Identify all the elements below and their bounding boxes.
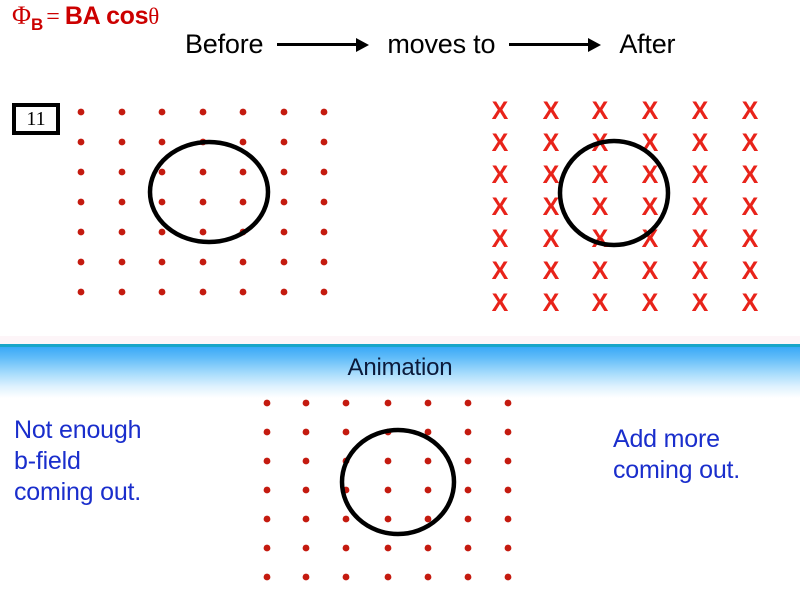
field-diagram-animation [255, 390, 525, 590]
right-arrow-icon [509, 37, 605, 51]
svg-text:X: X [592, 225, 609, 253]
caption-left-line3: coming out. [14, 477, 224, 508]
before-field-svg [70, 100, 360, 310]
svg-text:X: X [742, 225, 759, 253]
svg-text:X: X [692, 193, 709, 221]
svg-text:X: X [742, 289, 759, 317]
svg-text:X: X [492, 225, 509, 253]
animation-banner: Animation [0, 336, 800, 398]
svg-text:X: X [742, 161, 759, 189]
svg-text:X: X [692, 129, 709, 157]
svg-text:X: X [492, 193, 509, 221]
svg-text:X: X [692, 161, 709, 189]
caption-not-enough-bfield: Not enough b-field coming out. [14, 415, 224, 508]
svg-text:X: X [543, 289, 560, 317]
caption-right-line1: Add more [613, 424, 793, 455]
svg-text:X: X [543, 193, 560, 221]
svg-text:X: X [592, 97, 609, 125]
svg-text:X: X [543, 161, 560, 189]
caption-left-line2: b-field [14, 446, 224, 477]
equals-sign: = [43, 4, 65, 30]
x-grid-after: XXXXXX XXXXXX XXXXXX XXXXXX XXXXXX XXXXX… [492, 97, 759, 317]
svg-text:X: X [692, 257, 709, 285]
dot-grid-before [78, 109, 328, 296]
svg-text:X: X [692, 289, 709, 317]
animation-title: Animation [0, 354, 800, 382]
after-field-svg: XXXXXX XXXXXX XXXXXX XXXXXX XXXXXX XXXXX… [487, 93, 787, 311]
svg-text:X: X [692, 225, 709, 253]
theta-symbol: θ [148, 4, 159, 29]
svg-text:X: X [492, 97, 509, 125]
svg-text:X: X [642, 97, 659, 125]
flux-symbol: Φ [12, 1, 31, 30]
svg-text:X: X [592, 161, 609, 189]
moves-to-label: moves to [387, 29, 495, 59]
svg-text:X: X [543, 129, 560, 157]
svg-text:X: X [742, 257, 759, 285]
svg-text:X: X [592, 257, 609, 285]
slide-number-badge: 11 [12, 103, 60, 135]
svg-text:X: X [642, 161, 659, 189]
svg-text:X: X [742, 193, 759, 221]
transition-header: Before moves to After [185, 24, 715, 64]
flux-expression: BA cos [65, 2, 148, 30]
right-arrow-icon [277, 37, 373, 51]
banner-top-edge [0, 336, 800, 344]
svg-text:X: X [592, 289, 609, 317]
svg-text:X: X [742, 97, 759, 125]
svg-text:X: X [692, 97, 709, 125]
before-label: Before [185, 29, 263, 59]
flux-formula: ΦB=BA cosθ [12, 2, 159, 39]
after-label: After [619, 29, 675, 59]
svg-text:X: X [742, 129, 759, 157]
current-loop-animation [342, 430, 454, 534]
svg-text:X: X [492, 257, 509, 285]
flux-subscript: B [31, 15, 43, 34]
slide-number-value: 11 [26, 108, 45, 131]
field-diagram-after: XXXXXX XXXXXX XXXXXX XXXXXX XXXXXX XXXXX… [487, 93, 787, 311]
animation-field-svg [255, 390, 525, 590]
svg-text:X: X [543, 225, 560, 253]
svg-text:X: X [642, 193, 659, 221]
svg-text:X: X [492, 289, 509, 317]
svg-text:X: X [492, 161, 509, 189]
svg-text:X: X [642, 289, 659, 317]
current-loop-before [150, 142, 268, 242]
caption-right-line2: coming out. [613, 455, 793, 486]
svg-text:X: X [592, 193, 609, 221]
svg-text:X: X [543, 257, 560, 285]
svg-text:X: X [543, 97, 560, 125]
svg-text:X: X [642, 257, 659, 285]
caption-left-line1: Not enough [14, 415, 224, 446]
field-diagram-before [70, 100, 360, 310]
svg-text:X: X [492, 129, 509, 157]
caption-add-more: Add more coming out. [613, 424, 793, 486]
dot-grid-animation [264, 400, 512, 581]
